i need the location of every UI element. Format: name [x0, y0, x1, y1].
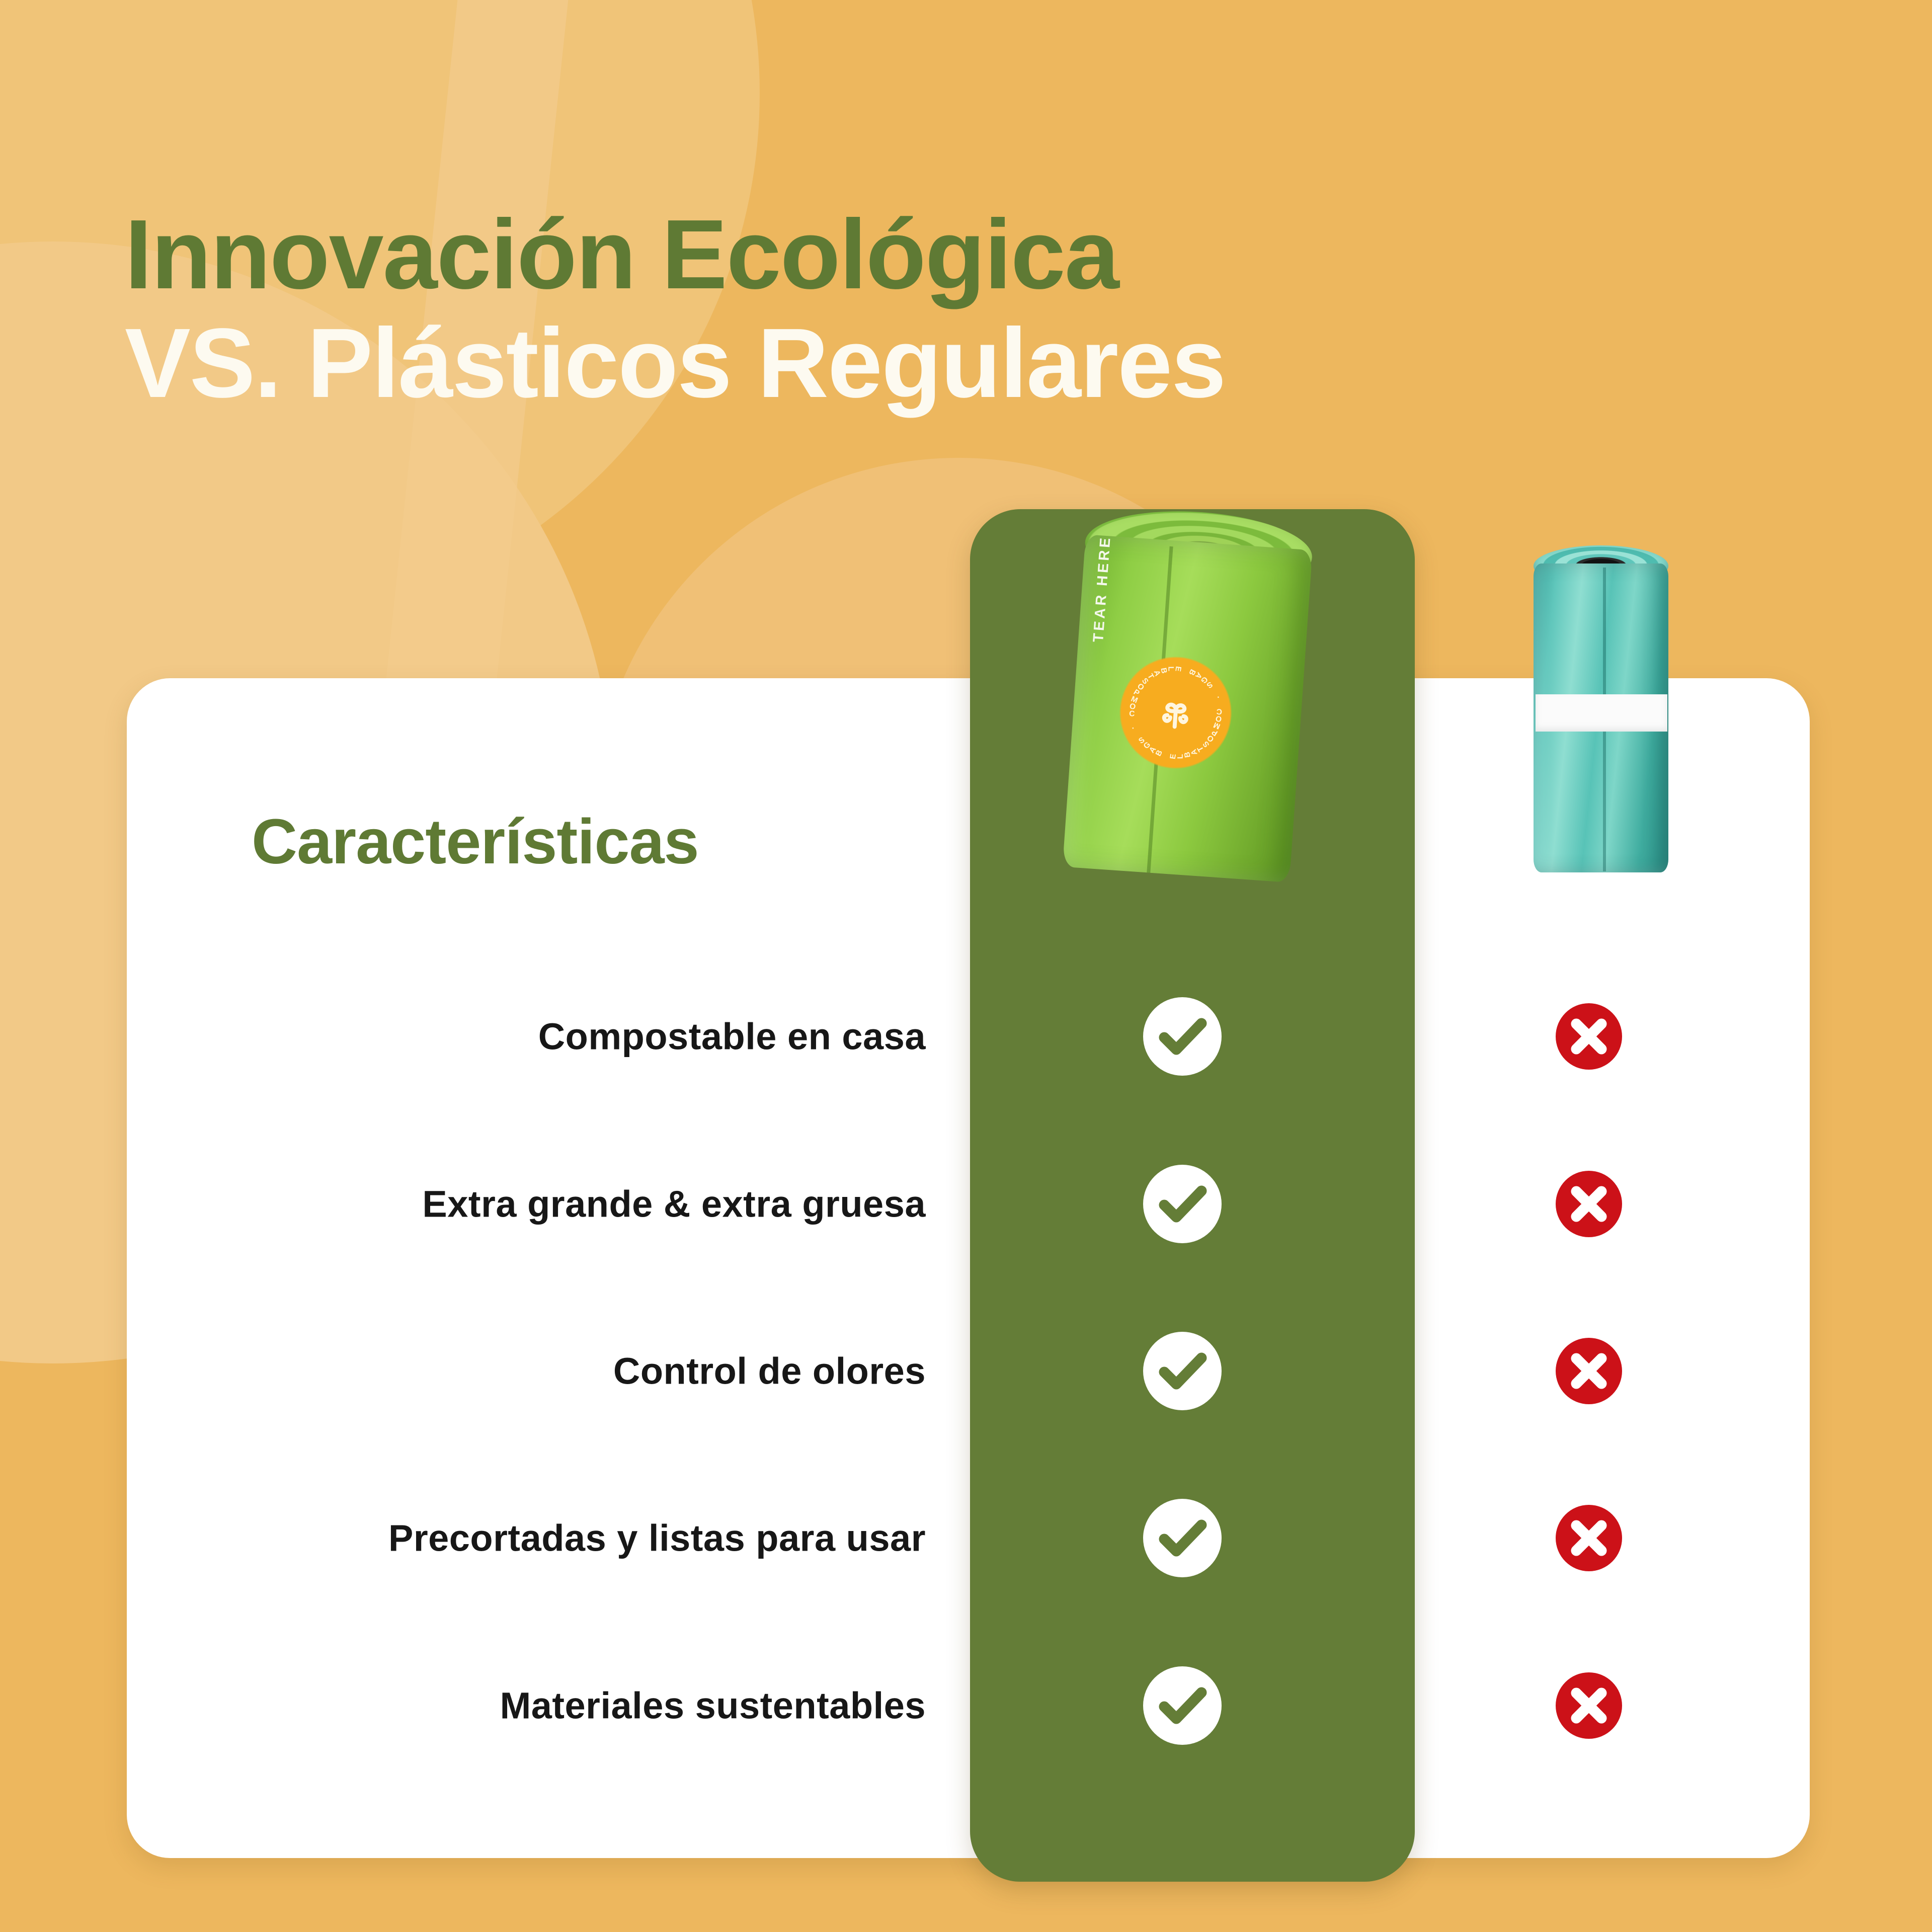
feature-label: Precortadas y listas para usar: [101, 1517, 926, 1558]
regular-plastic-cell-cross: [1555, 1337, 1623, 1405]
feature-label: Materiales sustentables: [101, 1685, 926, 1726]
check-circle-icon: [1142, 1164, 1223, 1244]
feature-label: Compostable en casa: [101, 1016, 926, 1057]
feature-rows: Compostable en casa Extra grande & extra…: [0, 0, 1932, 1932]
regular-plastic-cell-cross: [1555, 1002, 1623, 1071]
cross-circle-icon: [1555, 1002, 1623, 1071]
regular-plastic-cell-cross: [1555, 1671, 1623, 1740]
check-circle-icon: [1142, 1331, 1223, 1411]
table-row: Extra grande & extra gruesa: [0, 1151, 1932, 1257]
cross-circle-icon: [1555, 1170, 1623, 1238]
cross-circle-icon: [1555, 1504, 1623, 1572]
table-row: Compostable en casa: [0, 984, 1932, 1089]
table-row: Control de olores: [0, 1318, 1932, 1424]
regular-plastic-cell-cross: [1555, 1170, 1623, 1238]
compostable-cell-check: [1142, 1498, 1223, 1578]
feature-label: Extra grande & extra gruesa: [101, 1183, 926, 1224]
feature-label: Control de olores: [101, 1350, 926, 1391]
compostable-cell-check: [1142, 1331, 1223, 1411]
compostable-cell-check: [1142, 1665, 1223, 1746]
compostable-cell-check: [1142, 1164, 1223, 1244]
regular-plastic-cell-cross: [1555, 1504, 1623, 1572]
table-row: Precortadas y listas para usar: [0, 1485, 1932, 1591]
check-circle-icon: [1142, 1665, 1223, 1746]
table-row: Materiales sustentables: [0, 1653, 1932, 1758]
compostable-cell-check: [1142, 996, 1223, 1077]
cross-circle-icon: [1555, 1337, 1623, 1405]
poster-canvas: Innovación Ecológica VS. Plásticos Regul…: [0, 0, 1932, 1932]
check-circle-icon: [1142, 1498, 1223, 1578]
check-circle-icon: [1142, 996, 1223, 1077]
cross-circle-icon: [1555, 1671, 1623, 1740]
